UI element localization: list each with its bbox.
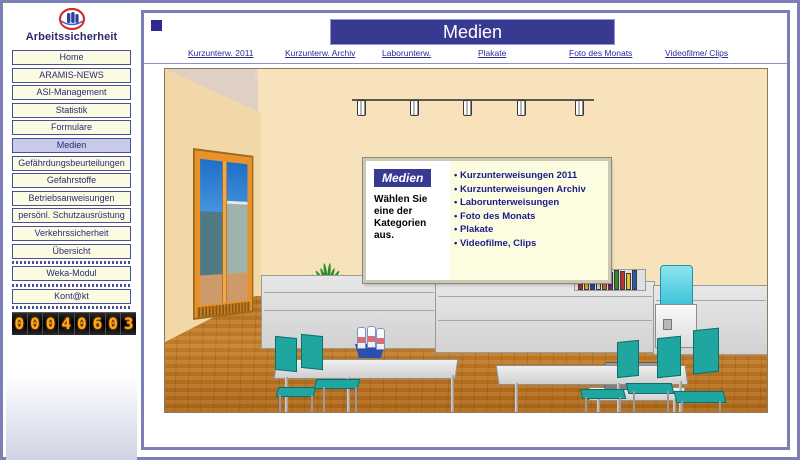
ceiling-spotlight-icon [410, 100, 419, 116]
book [632, 270, 637, 290]
whiteboard-item-foto-des-monats[interactable]: Foto des Monats [454, 210, 604, 224]
counter-digit: 3 [121, 313, 136, 335]
water-bottle [367, 326, 376, 348]
whiteboard-menu: Medien Wählen Sie eine der Kategorien au… [363, 158, 611, 283]
whiteboard-item-kurzunterweisungen-archiv[interactable]: Kurzunterweisungen Archiv [454, 183, 604, 197]
water-cooler-tap [663, 319, 672, 330]
chair-backrest [301, 334, 323, 370]
counter-digit: 0 [43, 313, 59, 335]
topnav-link-foto-des-monats[interactable]: Foto des Monats [569, 48, 632, 58]
sidebar-item-aramis-news[interactable]: ARAMIS-NEWS [12, 68, 131, 83]
chair-seat [314, 379, 361, 389]
window-glass [200, 159, 247, 305]
counter-digit: 0 [12, 313, 28, 335]
visitor-counter: 0 0 0 4 0 6 0 3 [12, 312, 136, 335]
ceiling-spotlight-icon [575, 100, 584, 116]
chair-leg [279, 395, 281, 413]
sidebar-gradient-fill [6, 375, 137, 460]
sidebar-item-asi-management[interactable]: ASI-Management [12, 85, 131, 100]
chair-backrest [275, 336, 297, 372]
water-bottle [376, 328, 385, 350]
sidebar-item-kontakt[interactable]: Kont@kt [12, 289, 131, 304]
blue-square-marker-icon [149, 18, 164, 33]
whiteboard-badge: Medien [374, 169, 431, 187]
whiteboard-prompt: Wählen Sie eine der Kategorien aus. [374, 194, 446, 242]
topnav-link-videofilme-clips[interactable]: Videofilme/ Clips [665, 48, 728, 58]
table-leg [451, 375, 454, 413]
counter-digit: 4 [59, 313, 75, 335]
chair-leg [619, 397, 621, 413]
window [193, 148, 253, 320]
whiteboard-item-laborunterweisungen[interactable]: Laborunterweisungen [454, 196, 604, 210]
sidebar-item-verkehrssicherheit[interactable]: Verkehrssicherheit [12, 226, 131, 241]
sidebar-item-gefaehrdungsbeurteilungen[interactable]: Gefährdungsbeurteilungen [12, 156, 131, 171]
top-navigation: Kurzunterw. 2011 Kurzunterw. Archiv Labo… [144, 48, 787, 64]
counter-digit: 0 [106, 313, 122, 335]
whiteboard-item-plakate[interactable]: Plakate [454, 223, 604, 237]
main-content: Medien Kurzunterw. 2011 Kurzunterw. Arch… [137, 6, 794, 454]
sidebar-item-home[interactable]: Home [12, 50, 131, 65]
sidebar-item-schutzausruestung[interactable]: persönl. Schutzausrüstung [12, 208, 131, 223]
brand-title: Arbeitssicherheit [6, 31, 137, 43]
classroom-illustration: Medien Wählen Sie eine der Kategorien au… [164, 68, 768, 413]
table-leg [515, 383, 518, 413]
chair-backrest [617, 340, 639, 378]
content-panel: Medien Kurzunterw. 2011 Kurzunterw. Arch… [141, 10, 790, 450]
counter-digit: 6 [90, 313, 106, 335]
book [614, 270, 619, 290]
water-cooler-bottle [660, 265, 693, 307]
safety-logo-icon [58, 8, 86, 30]
counter-digit: 0 [28, 313, 44, 335]
table-leg [597, 399, 600, 413]
chair-backrest [657, 336, 681, 379]
topnav-link-laborunterw[interactable]: Laborunterw. [382, 48, 431, 58]
room-scene: Medien Wählen Sie eine der Kategorien au… [165, 69, 767, 412]
topnav-link-kurzunterw-archiv[interactable]: Kurzunterw. Archiv [285, 48, 355, 58]
sidebar-item-uebersicht[interactable]: Übersicht [12, 244, 131, 259]
sidebar-nav: Home ARAMIS-NEWS ASI-Management Statisti… [12, 50, 131, 311]
chair-leg [323, 387, 325, 413]
whiteboard-item-kurzunterweisungen-2011[interactable]: Kurzunterweisungen 2011 [454, 169, 604, 183]
sidebar-item-betriebsanweisungen[interactable]: Betriebsanweisungen [12, 191, 131, 206]
sidebar-item-statistik[interactable]: Statistik [12, 103, 131, 118]
ceiling-spotlight-icon [517, 100, 526, 116]
sidebar-divider-3 [12, 306, 131, 309]
chair-leg [667, 391, 669, 413]
chair-leg [719, 401, 721, 413]
water-bottle [357, 327, 366, 349]
window-mullion [222, 161, 227, 303]
sidebar-item-medien[interactable]: Medien [12, 138, 131, 153]
ceiling-track-rail [352, 99, 594, 101]
whiteboard-category-list: Kurzunterweisungen 2011 Kurzunterweisung… [450, 161, 608, 280]
book [620, 271, 625, 290]
chair-leg [633, 391, 635, 413]
chair-leg [681, 401, 683, 413]
logo-area: Arbeitssicherheit [6, 7, 137, 41]
topnav-divider [144, 63, 787, 64]
counter-digit: 0 [75, 313, 91, 335]
topnav-link-plakate[interactable]: Plakate [478, 48, 506, 58]
sidebar-item-weka-modul[interactable]: Weka-Modul [12, 266, 131, 281]
chair-backrest [693, 328, 719, 375]
sidebar-divider-2 [12, 284, 131, 287]
chair-leg [311, 395, 313, 413]
sidebar: Arbeitssicherheit Home ARAMIS-NEWS ASI-M… [6, 6, 137, 460]
page-title: Medien [330, 19, 615, 45]
sidebar-item-formulare[interactable]: Formulare [12, 120, 131, 135]
chair-leg [355, 387, 357, 413]
ceiling-spotlight-icon [357, 100, 366, 116]
whiteboard-item-videofilme-clips[interactable]: Videofilme, Clips [454, 237, 604, 251]
chair-leg [585, 397, 587, 413]
sidebar-divider-1 [12, 261, 131, 264]
page-frame: Arbeitssicherheit Home ARAMIS-NEWS ASI-M… [0, 0, 800, 460]
topnav-link-kurzunterw-2011[interactable]: Kurzunterw. 2011 [188, 48, 254, 58]
whiteboard-left-column: Medien Wählen Sie eine der Kategorien au… [366, 161, 450, 280]
ceiling-spotlight-icon [463, 100, 472, 116]
sidebar-item-gefahrstoffe[interactable]: Gefahrstoffe [12, 173, 131, 188]
book [626, 273, 631, 290]
